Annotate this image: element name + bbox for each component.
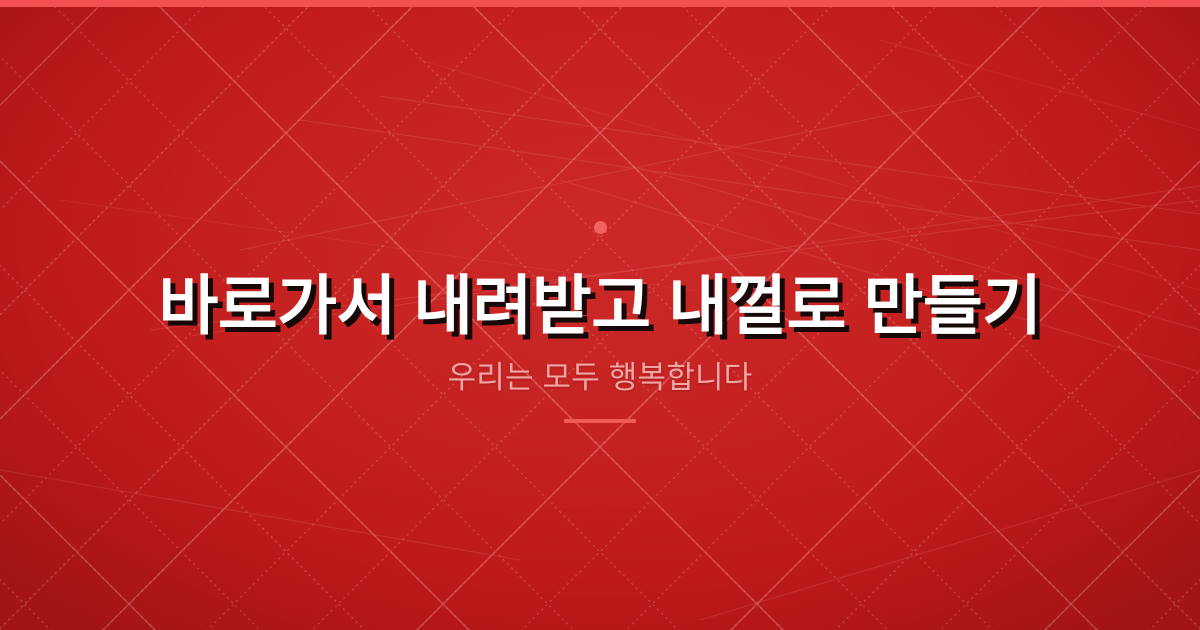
banner-subtitle: 우리는 모두 행복합니다	[448, 359, 753, 396]
accent-dot-icon	[594, 221, 607, 234]
hero-banner: 바로가서 내려받고 내껄로 만들기 우리는 모두 행복합니다	[0, 0, 1200, 630]
banner-title: 바로가서 내려받고 내껄로 만들기	[0, 272, 1200, 341]
title-divider	[564, 419, 636, 423]
banner-content: 바로가서 내려받고 내껄로 만들기 우리는 모두 행복합니다	[0, 0, 1200, 630]
